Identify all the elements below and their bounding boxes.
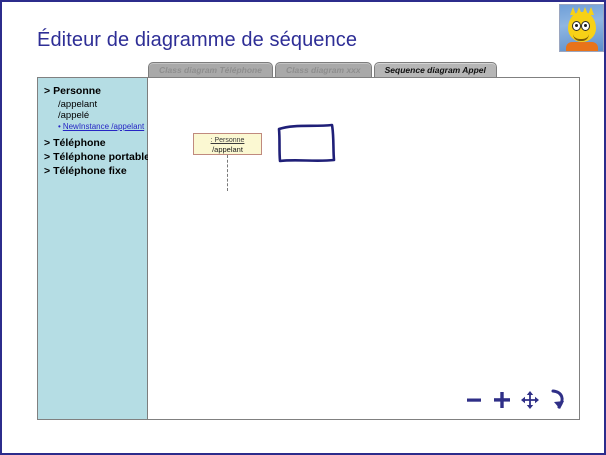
logo-body — [566, 42, 598, 52]
lifeline-dashed-line — [227, 155, 228, 191]
tree-node-label: Téléphone portable — [53, 151, 150, 163]
expand-arrow-icon[interactable]: > — [44, 85, 50, 97]
zoom-in-icon[interactable] — [491, 389, 513, 411]
editor-panel: >Personne /appelant /appelé •NewInstance… — [37, 77, 580, 420]
page-title: Éditeur de diagramme de séquence — [37, 29, 357, 52]
tree-link-label: NewInstance /appelant — [63, 122, 144, 131]
diagram-canvas[interactable]: : Personne /appelant — [148, 78, 579, 419]
logo-pupil — [584, 24, 587, 27]
expand-arrow-icon[interactable]: > — [44, 165, 50, 177]
tree-item-appelant[interactable]: /appelant — [44, 99, 147, 110]
lifeline-name: : Personne — [194, 136, 261, 145]
tree-node-label: Téléphone — [53, 137, 106, 149]
tab-bar: Class diagram Téléphone Class diagram xx… — [148, 60, 497, 78]
rotate-icon[interactable] — [547, 389, 569, 411]
tab-sequence-diagram-appel[interactable]: Sequence diagram Appel — [374, 62, 497, 78]
model-tree-sidebar: >Personne /appelant /appelé •NewInstance… — [38, 78, 148, 419]
expand-arrow-icon[interactable]: > — [44, 137, 50, 149]
canvas-toolbar — [463, 389, 569, 411]
cartoon-character-logo — [559, 4, 604, 52]
tree-node-telephone-portable[interactable]: >Téléphone portable — [44, 151, 147, 164]
hand-drawn-rectangle-annotation[interactable] — [276, 120, 346, 166]
tree-link-newinstance-appelant[interactable]: •NewInstance /appelant — [44, 121, 147, 132]
lifeline-role: /appelant — [194, 145, 261, 154]
bullet-icon: • — [58, 121, 61, 132]
lifeline-object[interactable]: : Personne /appelant — [193, 133, 262, 155]
slide-frame: Éditeur de diagramme de séquence Class d… — [0, 0, 606, 455]
tree-node-label: Personne — [53, 85, 101, 97]
tab-class-diagram-xxx[interactable]: Class diagram xxx — [275, 62, 372, 78]
logo-pupil — [575, 24, 578, 27]
tree-item-appele[interactable]: /appelé — [44, 110, 147, 121]
tab-class-diagram-telephone[interactable]: Class diagram Téléphone — [148, 62, 273, 78]
tree-node-label: Téléphone fixe — [53, 165, 127, 177]
move-icon[interactable] — [519, 389, 541, 411]
tree-node-telephone[interactable]: >Téléphone — [44, 137, 147, 150]
expand-arrow-icon[interactable]: > — [44, 151, 50, 163]
zoom-out-icon[interactable] — [463, 389, 485, 411]
tree-node-personne[interactable]: >Personne — [44, 85, 147, 98]
tree-node-telephone-fixe[interactable]: >Téléphone fixe — [44, 165, 147, 178]
